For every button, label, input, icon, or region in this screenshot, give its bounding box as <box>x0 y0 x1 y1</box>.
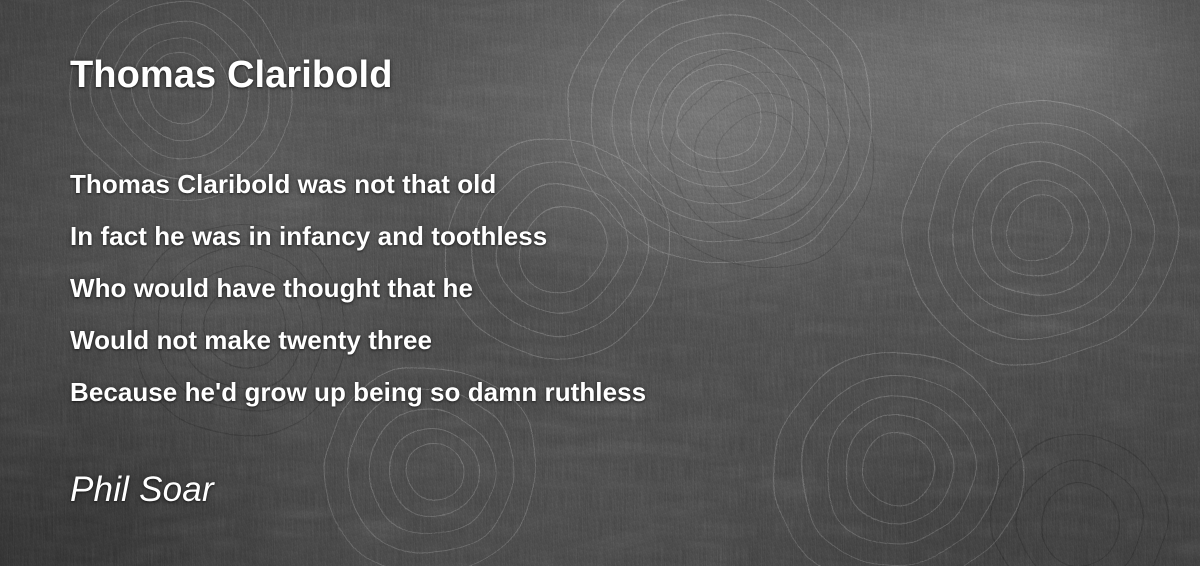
poem-line: Because he'd grow up being so damn ruthl… <box>70 366 646 418</box>
poem-card: Thomas Claribold Thomas Claribold was no… <box>0 0 1200 566</box>
poem-line: In fact he was in infancy and toothless <box>70 210 646 262</box>
poem-line: Would not make twenty three <box>70 314 646 366</box>
poem-body: Thomas Claribold was not that old In fac… <box>70 158 646 418</box>
poem-content: Thomas Claribold Thomas Claribold was no… <box>0 0 1200 566</box>
poem-line: Thomas Claribold was not that old <box>70 158 646 210</box>
poem-author: Phil Soar <box>70 468 214 512</box>
poem-line: Who would have thought that he <box>70 262 646 314</box>
poem-title: Thomas Claribold <box>70 52 393 98</box>
